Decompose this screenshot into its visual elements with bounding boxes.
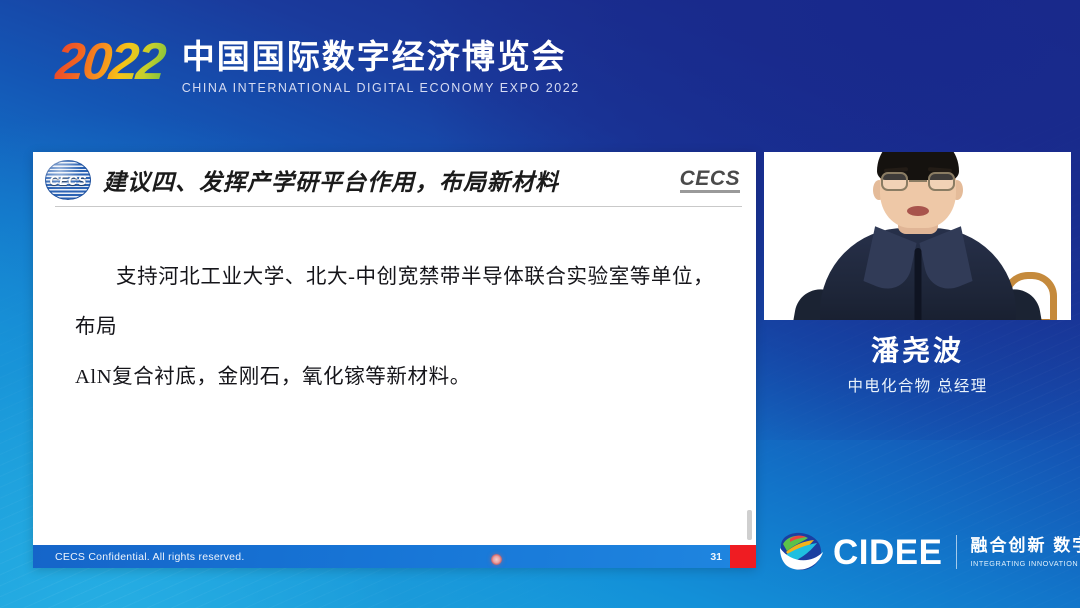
- jacket-collar-left: [863, 226, 916, 298]
- laser-pointer-dot: [491, 554, 502, 565]
- glasses-icon: [881, 172, 955, 192]
- expo-title-english: CHINA INTERNATIONAL DIGITAL ECONOMY EXPO…: [182, 81, 580, 95]
- slide-footer-marker: [730, 545, 756, 568]
- cidee-wordmark: CIDEE: [833, 535, 942, 570]
- speaker-video-panel[interactable]: [764, 152, 1071, 320]
- cidee-logo: CIDEE 融合创新 数字赋能 INTEGRATING INNOVATION D…: [778, 532, 1080, 572]
- expo-year-logo: 2022: [53, 36, 170, 88]
- cecs-globe-label: CECS: [50, 173, 87, 188]
- slide-body: 支持河北工业大学、北大-中创宽禁带半导体联合实验室等单位，布局 AlN复合衬底，…: [33, 208, 756, 403]
- cidee-divider: [956, 535, 957, 569]
- slide-footer-text: CECS Confidential. All rights reserved.: [55, 551, 245, 563]
- slide-title: 建议四、发挥产学研平台作用，布局新材料: [103, 163, 559, 197]
- speaker-jacket: [820, 228, 1016, 320]
- speaker-name: 潘尧波: [871, 334, 964, 367]
- expo-header: 2022 中国国际数字经济博览会 CHINA INTERNATIONAL DIG…: [56, 36, 580, 95]
- slide-paragraph-1: 支持河北工业大学、北大-中创宽禁带半导体联合实验室等单位，布局: [75, 252, 718, 352]
- slide-paragraph-2: AlN复合衬底，金刚石，氧化镓等新材料。: [75, 352, 718, 402]
- jacket-zipper: [914, 248, 921, 320]
- glasses-lens-right: [928, 172, 955, 191]
- slide-title-row: CECS 建议四、发挥产学研平台作用，布局新材料 CECS: [33, 152, 756, 208]
- cidee-slogan-group: 融合创新 数字赋能 INTEGRATING INNOVATION DIGITAL…: [970, 536, 1080, 568]
- jacket-collar-right: [919, 226, 972, 298]
- glasses-bridge: [909, 180, 927, 182]
- cecs-globe-icon: CECS: [45, 160, 91, 200]
- slide-footer-bar: CECS Confidential. All rights reserved. …: [33, 545, 756, 568]
- slide-panel[interactable]: CECS 建议四、发挥产学研平台作用，布局新材料 CECS 支持河北工业大学、北…: [33, 152, 756, 568]
- speaker-mouth: [907, 206, 929, 216]
- slide-scrollbar-thumb[interactable]: [747, 510, 752, 540]
- expo-title-group: 中国国际数字经济博览会 CHINA INTERNATIONAL DIGITAL …: [182, 36, 580, 95]
- speaker-name-card: 潘尧波 中电化合物 总经理: [764, 322, 1071, 408]
- cidee-swoosh-icon: [778, 532, 824, 572]
- glasses-lens-left: [881, 172, 908, 191]
- slide-title-divider: [55, 206, 742, 207]
- presentation-stage: 2022 中国国际数字经济博览会 CHINA INTERNATIONAL DIG…: [0, 0, 1080, 608]
- slide-brand-mark: CECS: [680, 168, 740, 193]
- cidee-slogan-chinese: 融合创新 数字赋能: [970, 536, 1080, 556]
- expo-title-chinese: 中国国际数字经济博览会: [182, 38, 580, 76]
- speaker-title: 中电化合物 总经理: [847, 374, 987, 396]
- cidee-slogan-english: INTEGRATING INNOVATION DIGITAL EMPOWERME…: [970, 559, 1080, 568]
